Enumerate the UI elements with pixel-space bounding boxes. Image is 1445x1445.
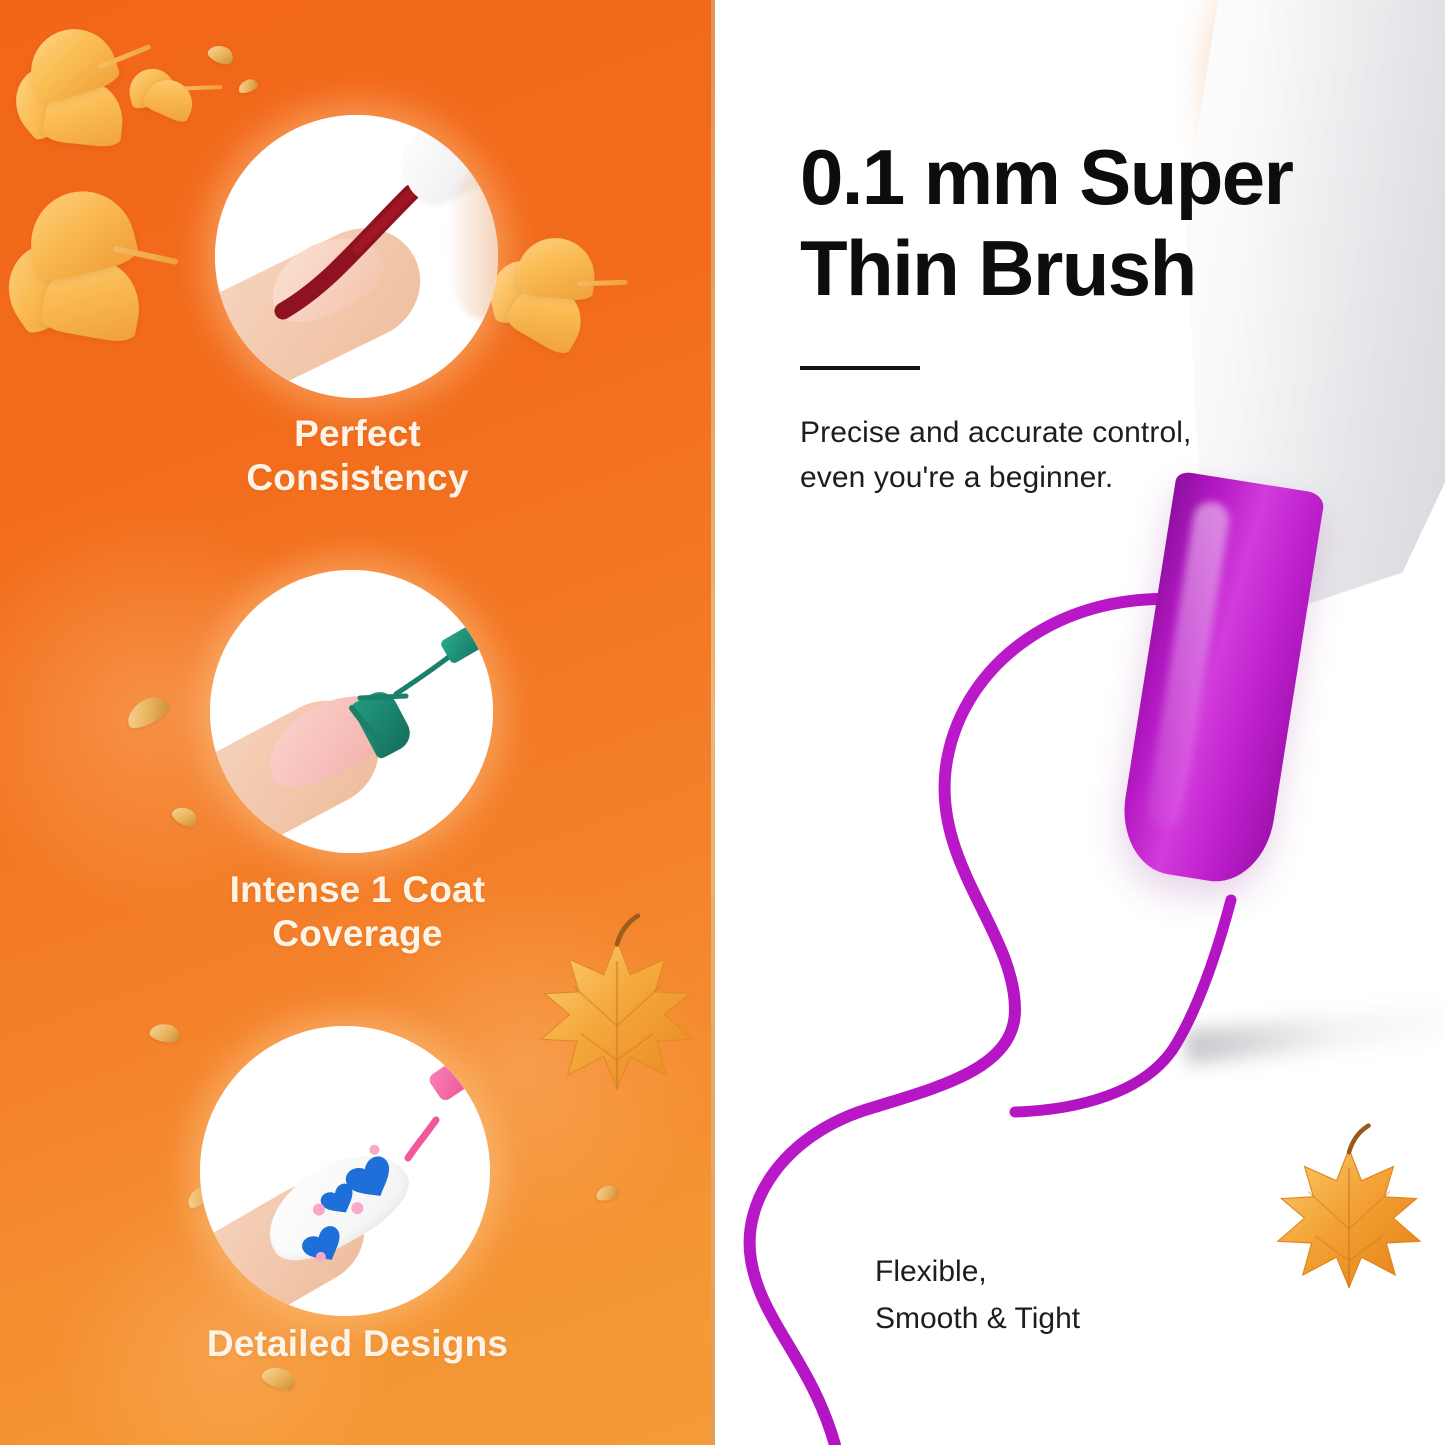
subtitle-text: Precise and accurate control, even you'r… bbox=[800, 410, 1360, 500]
feature-label-line2: Coverage bbox=[0, 912, 715, 956]
ginkgo-leaf-icon bbox=[2, 18, 133, 145]
subtitle-line-2: even you're a beginner. bbox=[800, 455, 1360, 500]
petal-confetti-icon bbox=[148, 1021, 181, 1046]
brush-drop-shadow bbox=[1184, 999, 1445, 1064]
subtitle-line-1: Precise and accurate control, bbox=[800, 410, 1360, 455]
petal-confetti-icon bbox=[169, 802, 200, 830]
feature-image-detailed-designs bbox=[200, 1026, 490, 1316]
petal-confetti-icon bbox=[206, 41, 237, 68]
feature-image-intense-1-coat-coverage bbox=[210, 570, 493, 853]
headline-line-2: Thin Brush bbox=[800, 223, 1420, 314]
feature-label-detailed-designs: Detailed Designs bbox=[0, 1322, 715, 1366]
feature-image-perfect-consistency bbox=[215, 115, 498, 398]
feature-label-line1: Perfect bbox=[0, 412, 715, 456]
bottom-caption-line-1: Flexible, bbox=[875, 1248, 1295, 1295]
feature-label-line1: Detailed Designs bbox=[0, 1322, 715, 1366]
feature-label-perfect-consistency: Perfect Consistency bbox=[0, 412, 715, 500]
headline-line-1: 0.1 mm Super bbox=[800, 132, 1420, 223]
feature-label-line1: Intense 1 Coat bbox=[0, 868, 715, 912]
petal-confetti-icon bbox=[595, 1184, 619, 1202]
left-orange-panel: Perfect Consistency bbox=[0, 0, 715, 1445]
petal-confetti-icon bbox=[122, 692, 172, 733]
polish-stroke bbox=[210, 570, 493, 853]
ginkgo-leaf-icon bbox=[123, 52, 213, 127]
ginkgo-leaf-icon bbox=[479, 218, 616, 351]
bottom-caption-line-2: Smooth & Tight bbox=[875, 1295, 1295, 1342]
feature-label-intense-1-coat-coverage: Intense 1 Coat Coverage bbox=[0, 868, 715, 956]
feature-label-line2: Consistency bbox=[0, 456, 715, 500]
petal-confetti-icon bbox=[237, 77, 260, 95]
ginkgo-leaf-icon bbox=[0, 183, 157, 333]
title-divider-rule bbox=[800, 366, 920, 370]
page-title: 0.1 mm Super Thin Brush bbox=[800, 132, 1420, 314]
product-feature-banner: Perfect Consistency bbox=[0, 0, 1445, 1445]
petal-confetti-icon bbox=[259, 1362, 298, 1393]
right-white-panel: 0.1 mm Super Thin Brush Precise and accu… bbox=[715, 0, 1445, 1445]
bottom-caption: Flexible, Smooth & Tight bbox=[875, 1248, 1295, 1342]
